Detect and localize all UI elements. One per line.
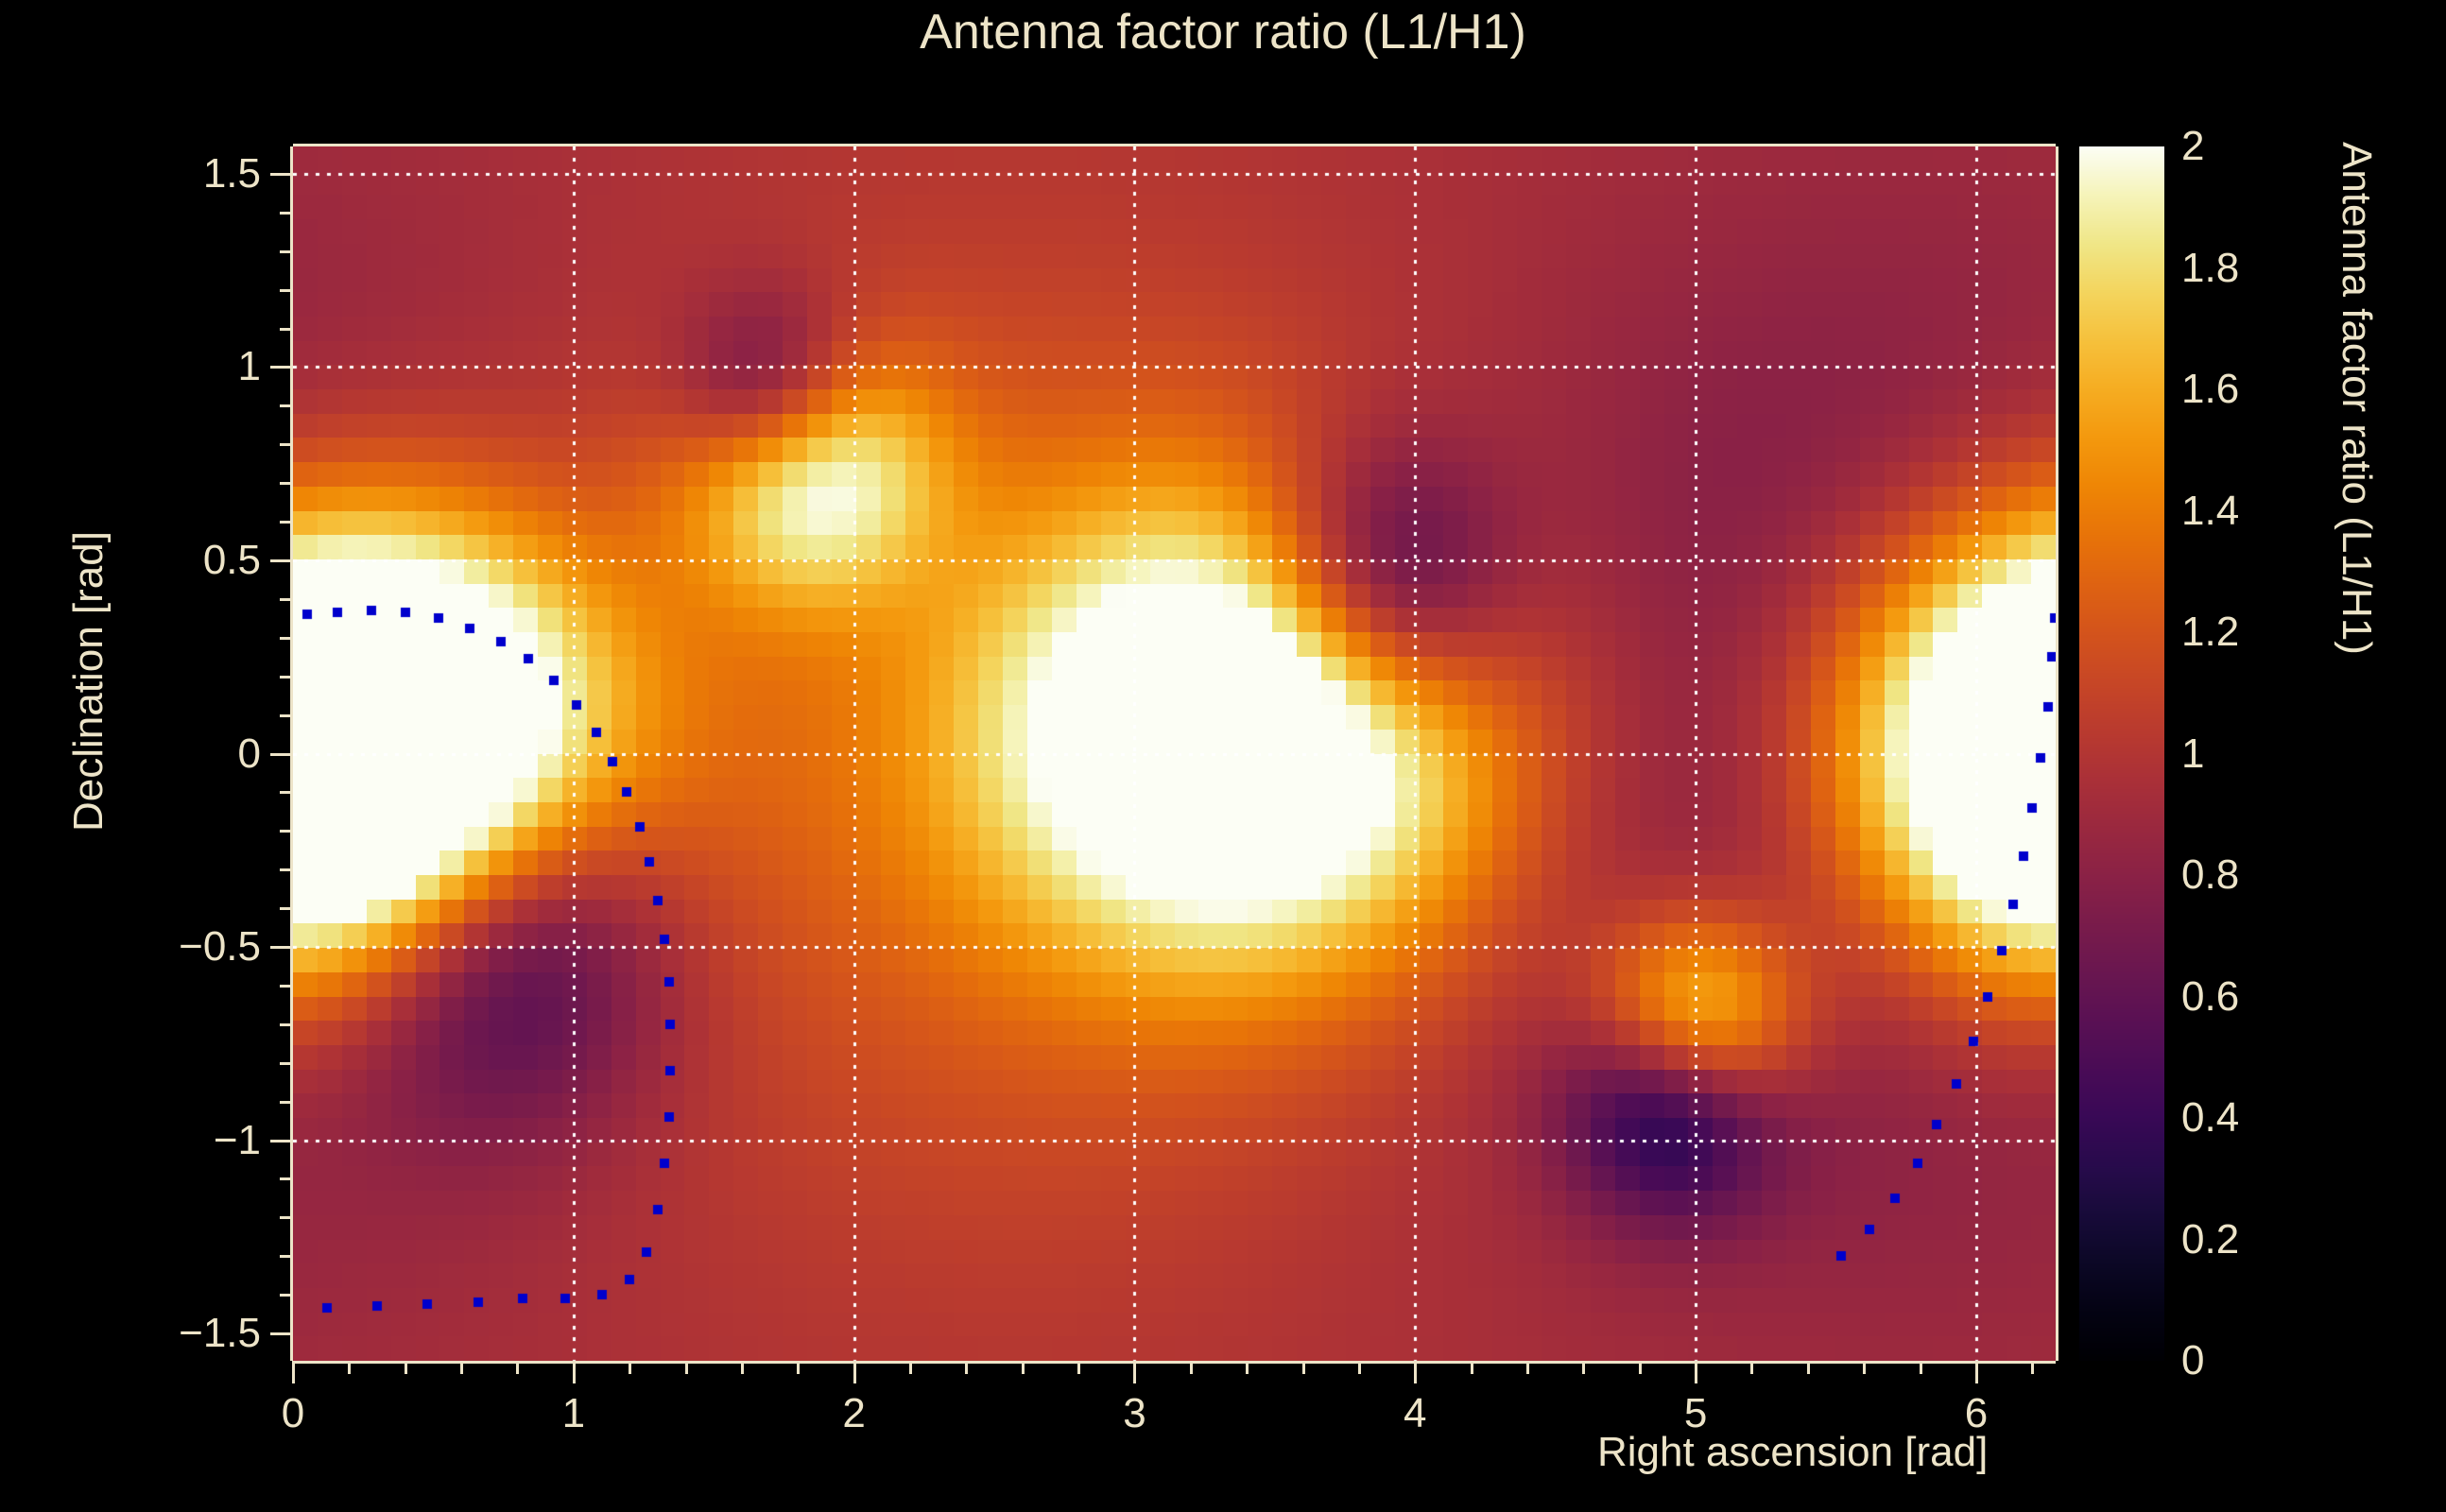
x-minor-tick xyxy=(460,1361,463,1374)
y-minor-tick xyxy=(280,521,293,524)
colorbar xyxy=(2079,146,2164,1361)
y-tick-0 xyxy=(270,1332,293,1335)
colorbar-tick-label-4: 0.8 xyxy=(2181,854,2239,896)
x-tick-label-2: 2 xyxy=(842,1393,865,1435)
x-tick-1 xyxy=(573,1361,576,1383)
y-tick-3 xyxy=(270,753,293,756)
x-minor-tick xyxy=(1471,1361,1473,1374)
x-tick-label-0: 0 xyxy=(282,1393,304,1435)
plot-canvas: Antenna factor ratio (L1/H1) −1.5−1−0.50… xyxy=(0,0,2446,1512)
x-minor-tick xyxy=(965,1361,968,1374)
x-tick-5 xyxy=(1695,1361,1697,1383)
y-tick-4 xyxy=(270,559,293,562)
x-minor-tick xyxy=(797,1361,800,1374)
y-minor-tick xyxy=(280,1294,293,1297)
y-minor-tick xyxy=(280,250,293,253)
colorbar-tick-label-5: 1 xyxy=(2181,733,2204,775)
y-minor-tick xyxy=(280,404,293,407)
y-tick-label-3: 0 xyxy=(238,733,261,775)
x-minor-tick xyxy=(1022,1361,1025,1374)
x-axis-title: Right ascension [rad] xyxy=(1597,1432,1988,1473)
x-minor-tick xyxy=(348,1361,351,1374)
colorbar-tick-label-7: 1.4 xyxy=(2181,490,2239,532)
y-tick-1 xyxy=(270,1140,293,1143)
y-minor-tick xyxy=(280,714,293,717)
y-minor-tick xyxy=(280,1023,293,1026)
y-minor-tick xyxy=(280,212,293,215)
y-minor-tick xyxy=(280,868,293,871)
y-tick-label-1: −1 xyxy=(214,1120,261,1161)
x-minor-tick xyxy=(1639,1361,1642,1374)
x-minor-tick xyxy=(1526,1361,1529,1374)
y-minor-tick xyxy=(280,443,293,446)
x-tick-6 xyxy=(1975,1361,1978,1383)
x-minor-tick xyxy=(1863,1361,1866,1374)
y-minor-tick xyxy=(280,289,293,292)
colorbar-tick-label-3: 0.6 xyxy=(2181,976,2239,1018)
y-minor-tick xyxy=(280,1062,293,1065)
y-tick-6 xyxy=(270,173,293,176)
colorbar-tick-label-9: 1.8 xyxy=(2181,248,2239,289)
x-minor-tick xyxy=(1190,1361,1193,1374)
colorbar-title: Antenna factor ratio (L1/H1) xyxy=(2335,142,2377,655)
x-minor-tick xyxy=(741,1361,744,1374)
plot-title: Antenna factor ratio (L1/H1) xyxy=(0,8,2446,57)
y-minor-tick xyxy=(280,1255,293,1258)
x-tick-label-1: 1 xyxy=(562,1393,585,1435)
y-minor-tick xyxy=(280,830,293,833)
x-minor-tick xyxy=(1077,1361,1080,1374)
colorbar-tick-label-10: 2 xyxy=(2181,126,2204,167)
y-minor-tick xyxy=(280,637,293,640)
y-tick-label-2: −0.5 xyxy=(179,926,261,968)
colorbar-tick-label-6: 1.2 xyxy=(2181,611,2239,653)
plot-right-edge xyxy=(2056,146,2058,1361)
x-minor-tick xyxy=(1302,1361,1305,1374)
y-tick-2 xyxy=(270,946,293,949)
y-tick-5 xyxy=(270,366,293,369)
overlay-curve xyxy=(293,146,2056,1361)
y-minor-tick xyxy=(280,907,293,910)
x-tick-3 xyxy=(1133,1361,1136,1383)
y-minor-tick xyxy=(280,598,293,601)
colorbar-tick-label-8: 1.6 xyxy=(2181,369,2239,410)
y-minor-tick xyxy=(280,328,293,331)
plot-top-edge xyxy=(293,144,2056,146)
y-axis-title: Declination [rad] xyxy=(68,531,110,832)
colorbar-tick-label-0: 0 xyxy=(2181,1340,2204,1382)
y-minor-tick xyxy=(280,1216,293,1219)
y-tick-label-6: 1.5 xyxy=(203,153,261,195)
colorbar-tick-label-1: 0.2 xyxy=(2181,1219,2239,1261)
colorbar-gradient xyxy=(2079,146,2164,1361)
y-tick-label-4: 0.5 xyxy=(203,540,261,581)
y-minor-tick xyxy=(280,1177,293,1180)
x-minor-tick xyxy=(1807,1361,1810,1374)
x-minor-tick xyxy=(1582,1361,1585,1374)
colorbar-tick-label-2: 0.4 xyxy=(2181,1097,2239,1139)
x-minor-tick xyxy=(405,1361,407,1374)
x-tick-0 xyxy=(292,1361,295,1383)
y-tick-label-0: −1.5 xyxy=(179,1313,261,1354)
heatmap-plot-area xyxy=(293,146,2056,1361)
y-minor-tick xyxy=(280,985,293,988)
x-tick-label-3: 3 xyxy=(1123,1393,1145,1435)
y-tick-label-5: 1 xyxy=(238,346,261,387)
x-minor-tick xyxy=(1358,1361,1361,1374)
x-axis-line xyxy=(293,1361,2056,1364)
x-tick-2 xyxy=(853,1361,856,1383)
x-minor-tick xyxy=(909,1361,912,1374)
x-minor-tick xyxy=(2031,1361,2034,1374)
x-minor-tick xyxy=(629,1361,631,1374)
y-minor-tick xyxy=(280,791,293,794)
y-minor-tick xyxy=(280,1101,293,1104)
x-minor-tick xyxy=(1750,1361,1753,1374)
x-minor-tick xyxy=(1920,1361,1922,1374)
x-minor-tick xyxy=(516,1361,519,1374)
x-tick-4 xyxy=(1414,1361,1417,1383)
y-minor-tick xyxy=(280,482,293,485)
y-minor-tick xyxy=(280,676,293,679)
x-minor-tick xyxy=(1246,1361,1249,1374)
x-minor-tick xyxy=(685,1361,688,1374)
x-tick-label-4: 4 xyxy=(1404,1393,1426,1435)
